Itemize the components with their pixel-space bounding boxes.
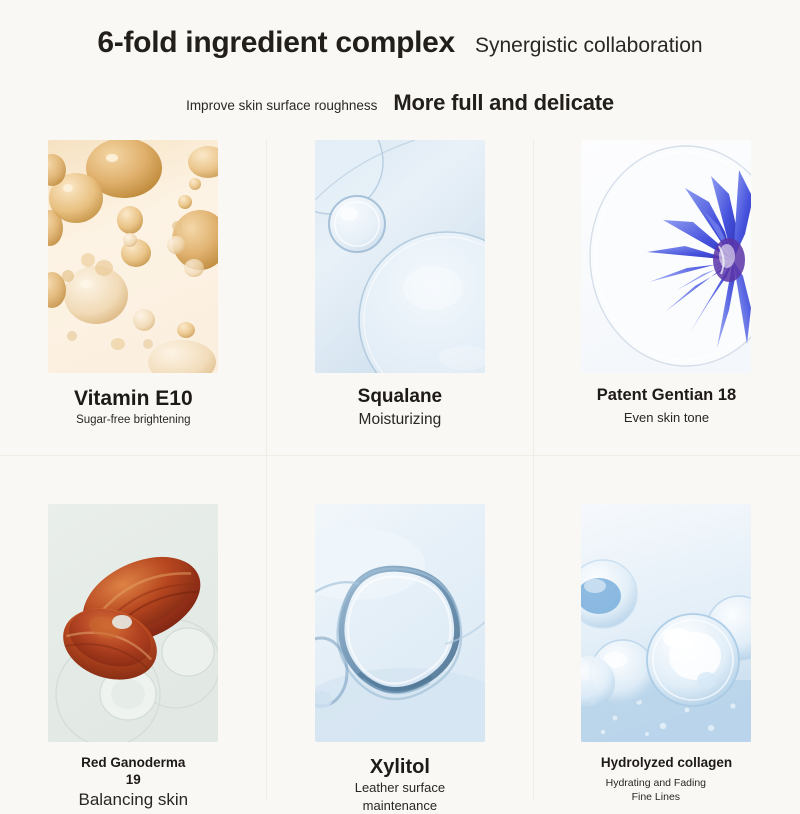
ingredient-caption: Red Ganoderma 19 Balancing skin: [73, 755, 193, 810]
page-title-suffix: Synergistic collaboration: [475, 34, 703, 58]
water-ripple-ring-photo: [315, 504, 485, 742]
ingredient-description: Even skin tone: [597, 410, 736, 426]
ingredient-name: Vitamin E10: [74, 386, 193, 411]
ingredient-row-2: Red Ganoderma 19 Balancing skin: [0, 504, 800, 814]
subtitle-small: Improve skin surface roughness: [186, 98, 377, 113]
red-reishi-mushroom-photo: [48, 504, 218, 742]
headline-primary-row: 6-fold ingredient complex Synergistic co…: [0, 26, 800, 60]
blue-translucent-droplets-photo: [315, 140, 485, 373]
ingredient-cell-vitamin-e10[interactable]: Vitamin E10 Sugar-free brightening: [0, 140, 267, 429]
ingredient-caption: Squalane Moisturizing: [358, 386, 442, 429]
subtitle-emphasis: More full and delicate: [393, 90, 614, 116]
ingredient-cell-xylitol[interactable]: Xylitol Leather surface maintenance: [267, 504, 534, 814]
ingredient-row-1: Vitamin E10 Sugar-free brightening: [0, 140, 800, 429]
ingredient-name: Squalane: [358, 386, 442, 409]
ingredient-name: Red Ganoderma 19: [73, 755, 193, 787]
ingredient-name: Hydrolyzed collagen: [601, 755, 732, 771]
ingredient-name: Xylitol: [345, 755, 455, 779]
ingredient-description: Moisturizing: [358, 411, 442, 430]
infographic-page: 6-fold ingredient complex Synergistic co…: [0, 0, 800, 800]
ingredient-caption: Xylitol Leather surface maintenance: [345, 755, 455, 814]
ingredient-cell-red-ganoderma[interactable]: Red Ganoderma 19 Balancing skin: [0, 504, 267, 814]
blue-cornflower-in-petri-dish-photo: [581, 140, 751, 373]
ingredient-grid: Vitamin E10 Sugar-free brightening: [0, 140, 800, 814]
ingredient-description: Sugar-free brightening: [74, 414, 193, 428]
golden-oil-bubbles-photo: [48, 140, 218, 373]
page-title: 6-fold ingredient complex: [97, 26, 455, 60]
ingredient-caption: Vitamin E10 Sugar-free brightening: [74, 386, 193, 428]
ingredient-cell-hydrolyzed-collagen[interactable]: Hydrolyzed collagen Hydrating and Fading…: [533, 504, 800, 814]
water-spheres-photo: [581, 504, 751, 742]
ingredient-cell-patent-gentian[interactable]: Patent Gentian 18 Even skin tone: [533, 140, 800, 429]
ingredient-caption: Hydrolyzed collagen Hydrating and Fading…: [601, 755, 732, 804]
ingredient-name: Patent Gentian 18: [597, 386, 736, 406]
ingredient-cell-squalane[interactable]: Squalane Moisturizing: [267, 140, 534, 429]
ingredient-caption: Patent Gentian 18 Even skin tone: [597, 386, 736, 425]
ingredient-description: Leather surface maintenance: [345, 779, 455, 814]
headline-secondary-row: Improve skin surface roughness More full…: [0, 90, 800, 116]
